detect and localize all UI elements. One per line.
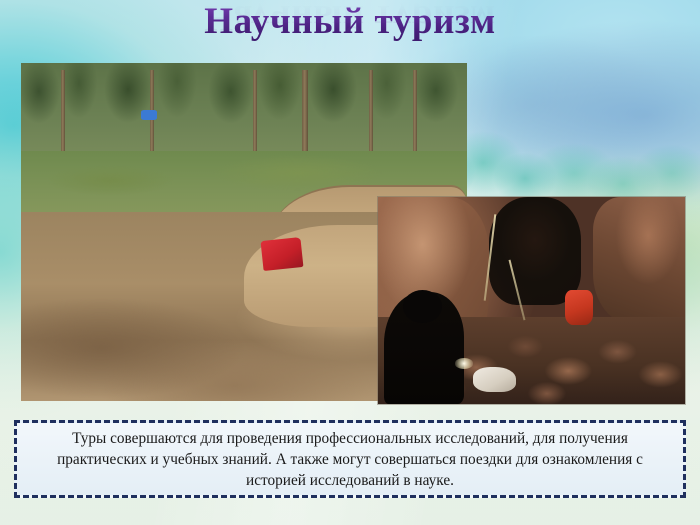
headlamp-light (455, 358, 473, 368)
presentation-slide: Научный туризм Научный туризм (0, 0, 700, 525)
caption-text: Туры совершаются для проведения професси… (27, 428, 673, 491)
cave-wall-right (593, 197, 685, 325)
white-rock (473, 367, 516, 392)
red-backpack (565, 290, 593, 325)
page-title-reflection: Научный туризм (204, 0, 496, 38)
photo-cave-exploration (378, 197, 685, 404)
tree-trunk (253, 70, 257, 158)
caption-textbox: Туры совершаются для проведения професси… (14, 420, 686, 498)
tree-trunk (413, 70, 417, 155)
blue-glove (141, 110, 157, 120)
cave-dark-passage (489, 197, 581, 305)
slide-title-block: Научный туризм Научный туризм (0, 1, 700, 79)
red-dustpan (260, 237, 303, 271)
